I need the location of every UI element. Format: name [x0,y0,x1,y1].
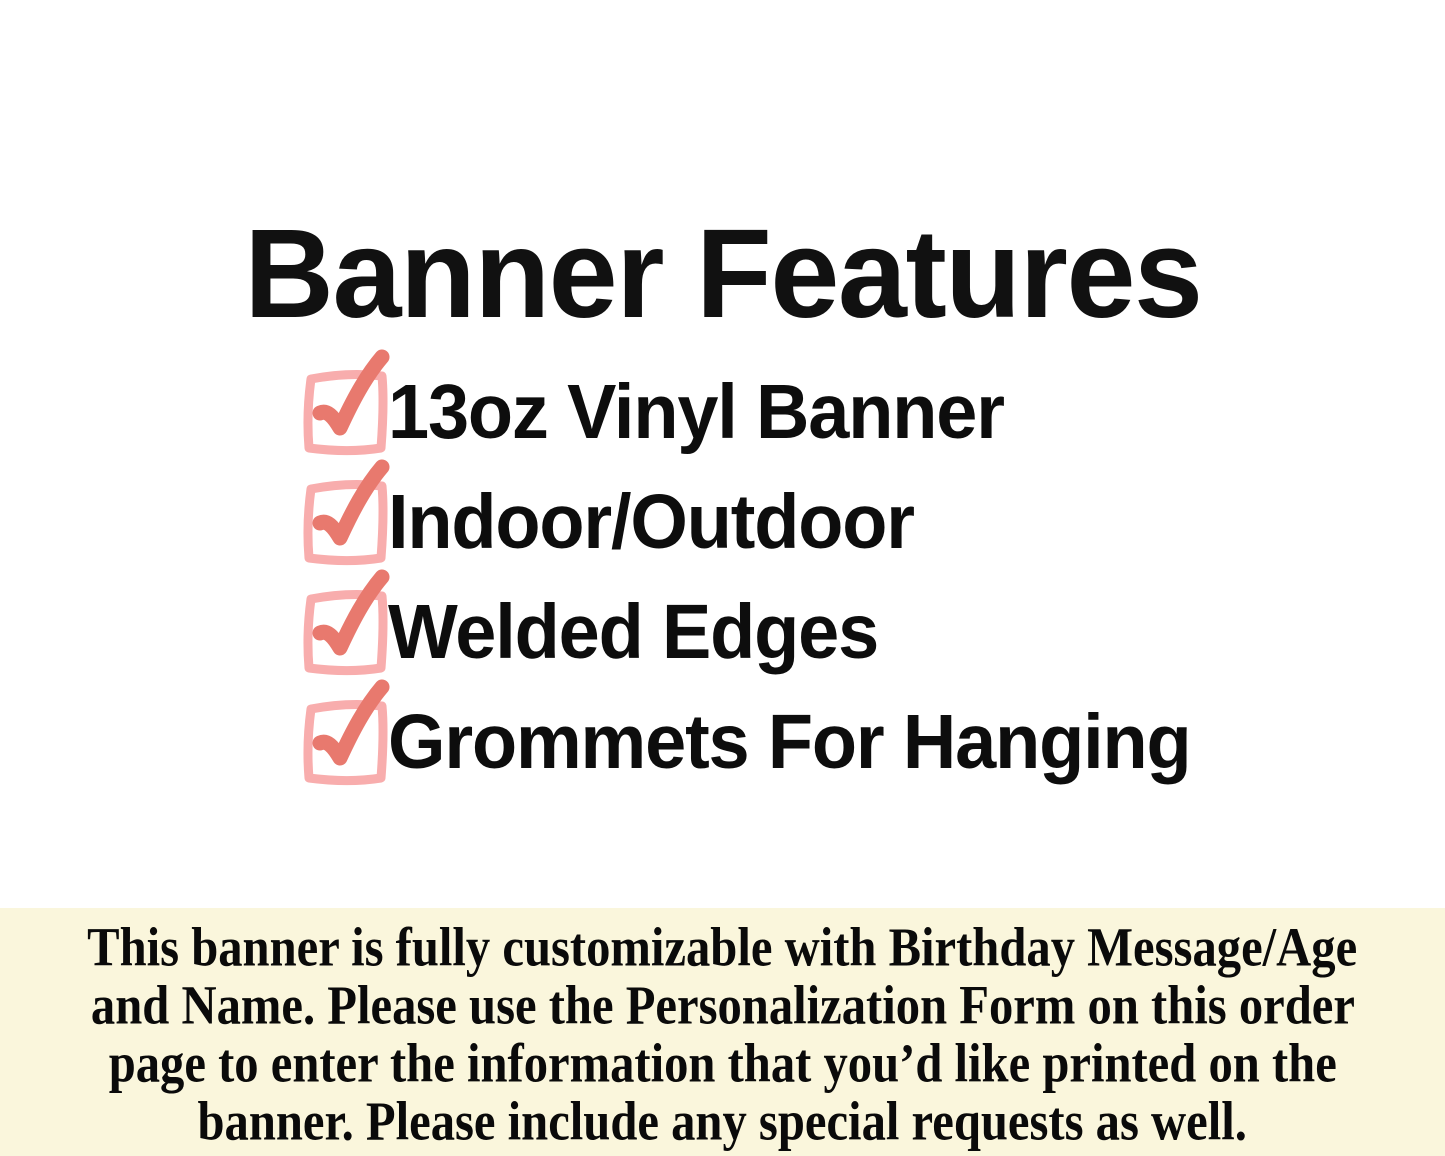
customization-note: This banner is fully customizable with B… [0,908,1445,1156]
checkbox-checked-icon [296,572,400,676]
note-line: banner. Please include any special reque… [198,1092,1247,1153]
note-line: and Name. Please use the Personalization… [90,976,1354,1037]
product-feature-graphic: Banner Features 13oz Vinyl Banner Indoor… [0,0,1445,1156]
feature-label: Indoor/Outdoor [388,484,914,561]
checkbox-checked-icon [296,352,400,456]
page-title: Banner Features [244,210,1201,339]
list-item: Welded Edges [296,572,1416,682]
feature-label: 13oz Vinyl Banner [388,374,1004,451]
list-item: Grommets For Hanging [296,682,1416,792]
feature-label: Grommets For Hanging [388,704,1190,781]
feature-checklist: 13oz Vinyl Banner Indoor/Outdoor Welded … [296,352,1416,792]
feature-label: Welded Edges [388,594,878,671]
note-line: page to enter the information that you’d… [108,1034,1336,1095]
checkbox-checked-icon [296,682,400,786]
list-item: 13oz Vinyl Banner [296,352,1416,462]
list-item: Indoor/Outdoor [296,462,1416,572]
checkbox-checked-icon [296,462,400,566]
note-line: This banner is fully customizable with B… [87,918,1357,979]
